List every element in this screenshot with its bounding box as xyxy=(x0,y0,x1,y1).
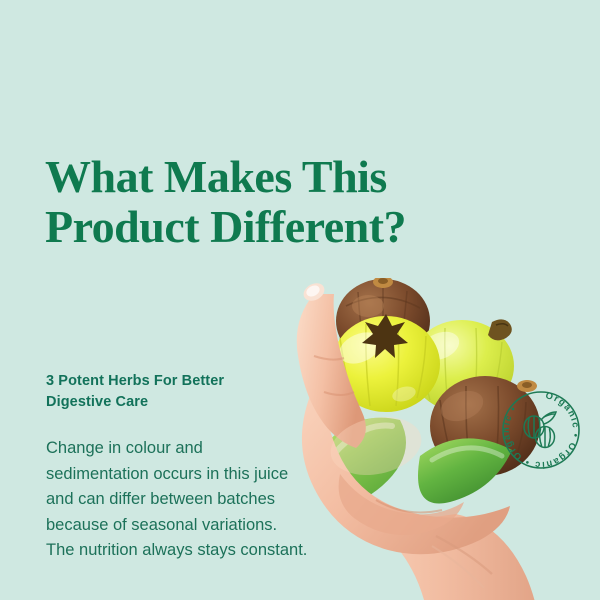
organic-badge: Organic • Organic • Organic • xyxy=(500,389,582,471)
poster-canvas: What Makes This Product Different? 3 Pot… xyxy=(0,0,600,600)
page-title: What Makes This Product Different? xyxy=(45,152,475,252)
subheading: 3 Potent Herbs For Better Digestive Care xyxy=(46,371,286,413)
body-paragraph: Change in colour and sedimentation occur… xyxy=(46,436,308,564)
amla-leaf-emblem xyxy=(524,412,556,448)
green-pod-right xyxy=(418,438,512,503)
